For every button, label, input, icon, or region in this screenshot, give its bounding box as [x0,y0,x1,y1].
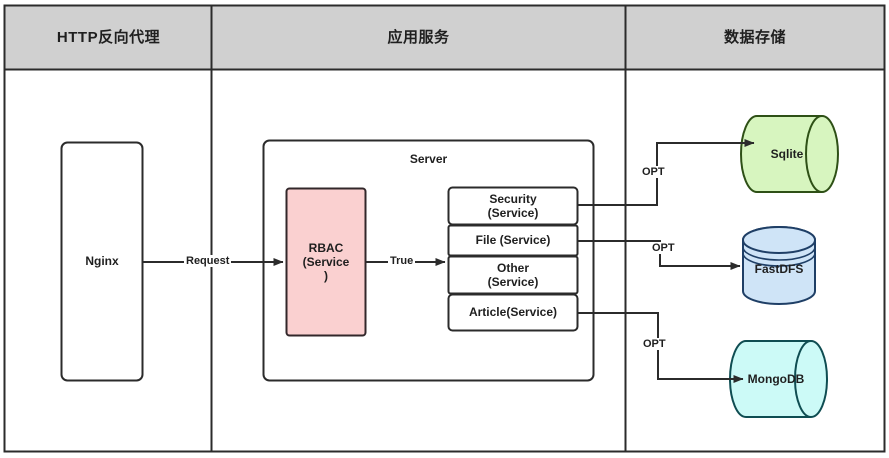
node-fastdfs[interactable] [743,227,815,304]
node-sqlite[interactable] [741,116,838,192]
node-nginx[interactable] [62,143,143,381]
node-file[interactable] [449,226,578,256]
node-rbac[interactable] [287,189,366,336]
node-mongodb[interactable] [730,341,827,417]
node-security[interactable] [449,188,578,225]
edge-label-request: Request [184,255,231,267]
edge-label-opt-mongodb: OPT [641,338,668,350]
edge-label-opt-fastdfs: OPT [650,242,677,254]
diagram-canvas [0,0,889,458]
edge-label-true: True [388,255,415,267]
node-other[interactable] [449,257,578,294]
edge-label-opt-sqlite: OPT [640,166,667,178]
architecture-diagram: HTTP反向代理 应用服务 数据存储 Nginx Server RBAC (Se… [0,0,889,458]
node-article[interactable] [449,295,578,331]
service-stack [449,188,578,331]
